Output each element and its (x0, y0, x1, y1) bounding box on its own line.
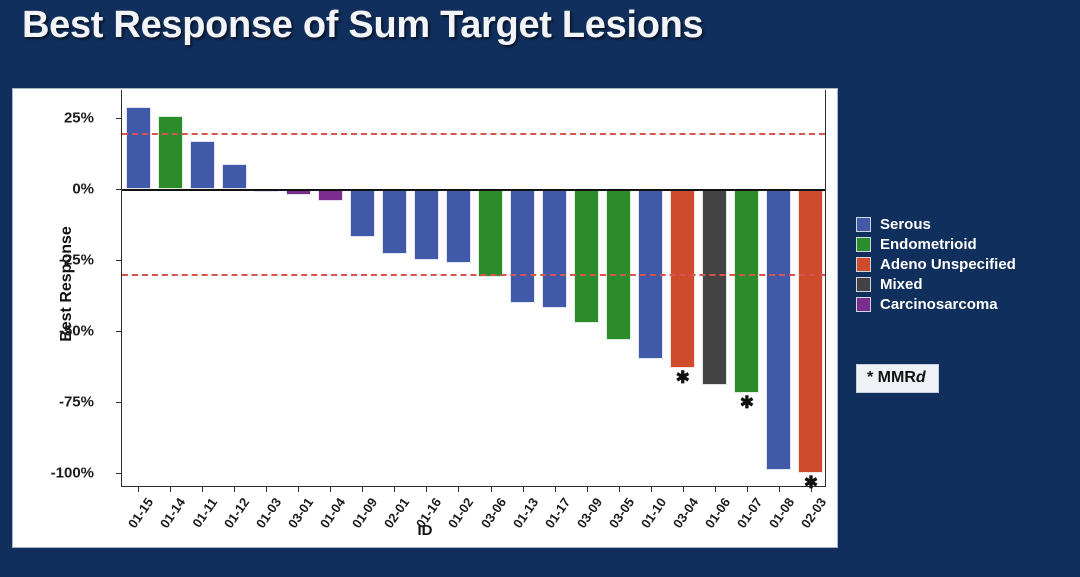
x-axis-tick-mark (747, 487, 748, 492)
x-axis-tick-mark (458, 487, 459, 492)
legend-item-label: Endometrioid (880, 236, 977, 253)
legend-swatch-icon (856, 297, 871, 312)
legend-item-label: Mixed (880, 276, 923, 293)
bar-01-09 (350, 189, 375, 237)
x-axis-tick-mark (523, 487, 524, 492)
x-axis-tick-mark (330, 487, 331, 492)
legend-swatch-icon (856, 277, 871, 292)
slide-canvas: Best Response of Sum Target Lesions Best… (0, 0, 1080, 577)
bar-03-06 (478, 189, 503, 277)
bar-03-09 (574, 189, 599, 322)
mmrd-star-icon: ✱ (740, 394, 754, 411)
bar-01-13 (510, 189, 535, 302)
bar-01-15 (126, 107, 151, 189)
legend-item-endometrioid[interactable]: Endometrioid (856, 236, 1071, 253)
legend-swatch-icon (856, 217, 871, 232)
mmrd-annotation: * MMRd (856, 364, 939, 393)
bar-01-16 (414, 189, 439, 260)
y-axis-tick-label: -100% (51, 464, 101, 481)
x-axis-tick-mark (683, 487, 684, 492)
x-axis-tick-mark (394, 487, 395, 492)
legend-item-label: Carcinosarcoma (880, 296, 998, 313)
plot-area: 25%0%-25%-50%-75%-100% ✱✱✱ 01-1501-1401-… (121, 90, 826, 487)
legend: SerousEndometrioidAdeno UnspecifiedMixed… (856, 216, 1071, 316)
legend-item-label: Adeno Unspecified (880, 256, 1016, 273)
x-axis-tick-mark (138, 487, 139, 492)
x-axis-tick-mark (202, 487, 203, 492)
x-axis-tick-mark (234, 487, 235, 492)
y-axis-tick-label: -75% (59, 393, 101, 410)
reference-line (122, 133, 825, 135)
bar-03-05 (606, 189, 631, 339)
mmrd-star-icon: ✱ (804, 474, 818, 491)
x-axis-tick-mark (587, 487, 588, 492)
x-axis-tick-mark (715, 487, 716, 492)
legend-item-carcinosarcoma[interactable]: Carcinosarcoma (856, 296, 1071, 313)
legend-swatch-icon (856, 237, 871, 252)
mmrd-star-icon: ✱ (676, 369, 690, 386)
bar-02-01 (382, 189, 407, 254)
x-axis-tick-mark (651, 487, 652, 492)
bar-01-14 (158, 116, 183, 190)
legend-item-mixed[interactable]: Mixed (856, 276, 1071, 293)
reference-line (122, 274, 825, 276)
legend-item-serous[interactable]: Serous (856, 216, 1071, 233)
bar-01-06 (702, 189, 727, 385)
x-axis-tick-mark (170, 487, 171, 492)
chart-panel: Best Response ID 25%0%-25%-50%-75%-100% … (12, 88, 838, 548)
x-axis-tick-mark (298, 487, 299, 492)
bar-01-11 (190, 141, 215, 189)
bar-01-07 (734, 189, 759, 393)
legend-swatch-icon (856, 257, 871, 272)
y-axis-tick-label: 25% (64, 110, 101, 127)
bar-01-08 (766, 189, 791, 470)
x-axis-tick-mark (491, 487, 492, 492)
zero-baseline (122, 189, 825, 191)
x-axis-tick-mark (779, 487, 780, 492)
x-axis-tick-mark (266, 487, 267, 492)
bar-series: ✱✱✱ (122, 90, 825, 486)
mmrd-italic-d: d (916, 369, 926, 386)
mmrd-label: * MMR (867, 369, 916, 386)
bar-03-04 (670, 189, 695, 368)
x-axis-tick-mark (555, 487, 556, 492)
bar-01-02 (446, 189, 471, 263)
x-axis-tick-mark (362, 487, 363, 492)
y-axis-tick-label: 0% (72, 181, 101, 198)
bar-02-03 (798, 189, 823, 473)
x-axis-tick-mark (426, 487, 427, 492)
page-title: Best Response of Sum Target Lesions (22, 4, 703, 47)
bar-01-17 (542, 189, 567, 308)
legend-item-adeno-unspecified[interactable]: Adeno Unspecified (856, 256, 1071, 273)
x-axis-tick-mark (619, 487, 620, 492)
bar-01-12 (222, 164, 247, 190)
y-axis-tick-label: -25% (59, 252, 101, 269)
y-axis-tick-label: -50% (59, 323, 101, 340)
legend-item-label: Serous (880, 216, 931, 233)
